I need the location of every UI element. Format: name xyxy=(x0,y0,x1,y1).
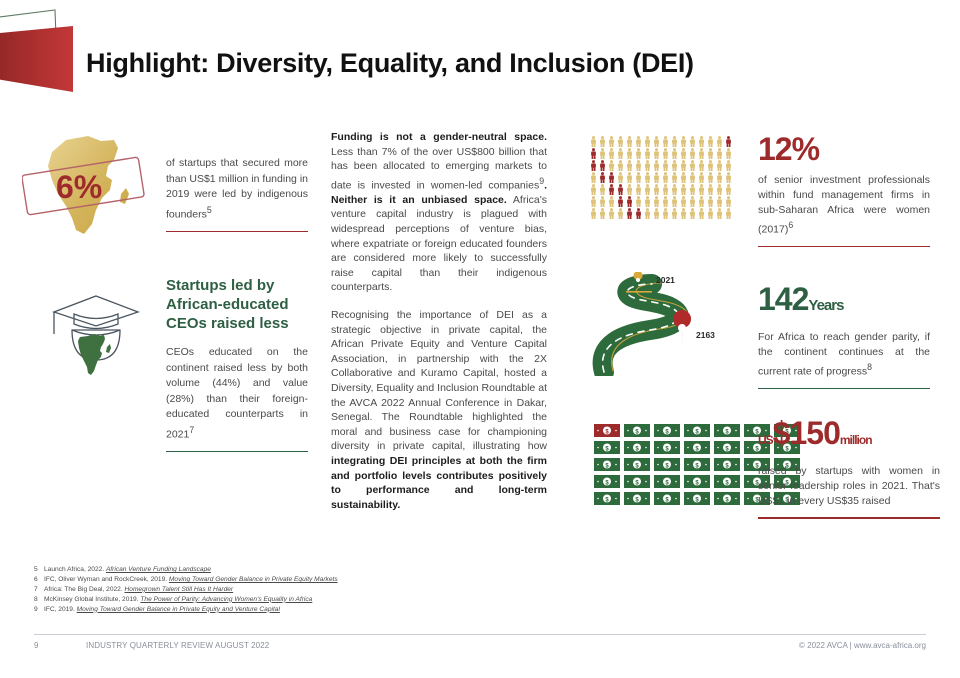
people-pictogram-chart xyxy=(590,136,738,231)
right-column: 12% of senior investment professionals w… xyxy=(586,128,944,528)
person-icon xyxy=(590,148,597,159)
person-icon xyxy=(716,136,723,147)
person-icon xyxy=(608,184,615,195)
footnote-row: 5Launch Africa, 2022. African Venture Fu… xyxy=(34,565,634,575)
banknote-icon: $ xyxy=(714,424,740,437)
footnote-ref-8: 8 xyxy=(867,362,872,372)
footnote-title-link[interactable]: African Venture Funding Landscape xyxy=(106,566,211,573)
paragraph-funding-lead: Funding is not a gender-neutral space. xyxy=(331,131,547,143)
stat-12-text: 12% of senior investment professionals w… xyxy=(758,132,930,247)
person-icon xyxy=(644,196,651,207)
person-icon xyxy=(626,148,633,159)
person-icon xyxy=(635,208,642,219)
person-icon xyxy=(716,208,723,219)
footnote-ref-5: 5 xyxy=(207,205,212,215)
stat-150-text: US$150million raised by startups with wo… xyxy=(758,416,940,519)
person-icon xyxy=(617,160,624,171)
banknote-icon: $ xyxy=(624,475,650,488)
stat-6-percent-block: 6% of startups that secured more than US… xyxy=(18,128,318,246)
banknote-icon: $ xyxy=(654,424,680,437)
person-icon xyxy=(680,196,687,207)
stat-12-percent-panel: 12% of senior investment professionals w… xyxy=(586,128,944,268)
footnote-row: 8McKinsey Global Institute, 2019. The Po… xyxy=(34,595,634,605)
person-icon xyxy=(698,208,705,219)
person-icon xyxy=(671,196,678,207)
person-icon xyxy=(662,208,669,219)
person-icon xyxy=(725,172,732,183)
person-icon xyxy=(608,160,615,171)
stat-6-description: of startups that secured more than US$1 … xyxy=(166,156,308,232)
banknote-icon: $ xyxy=(654,458,680,471)
person-icon xyxy=(599,184,606,195)
education-heading: Startups led by African-educated CEOs ra… xyxy=(166,276,308,333)
person-icon xyxy=(590,160,597,171)
person-icon xyxy=(635,184,642,195)
stat-150-prefix: US xyxy=(758,433,773,447)
left-column: 6% of startups that secured more than US… xyxy=(18,128,318,246)
footnote-number: 5 xyxy=(34,565,44,575)
person-icon xyxy=(599,196,606,207)
footnote-ref-7: 7 xyxy=(189,425,194,435)
paragraph-funding: Funding is not a gender-neutral space. L… xyxy=(331,130,547,295)
person-icon xyxy=(680,136,687,147)
banknote-icon: $ xyxy=(714,441,740,454)
person-icon xyxy=(662,160,669,171)
person-icon xyxy=(725,184,732,195)
person-icon xyxy=(653,184,660,195)
footnote-title-link[interactable]: Homegrown Talent Still Has It Harder xyxy=(125,586,234,593)
person-icon xyxy=(716,160,723,171)
person-icon xyxy=(653,148,660,159)
footnote-row: 9IFC, 2019. Moving Toward Gender Balance… xyxy=(34,605,634,615)
person-icon xyxy=(644,184,651,195)
person-icon xyxy=(608,172,615,183)
banknote-icon: $ xyxy=(594,492,620,505)
person-icon xyxy=(644,136,651,147)
person-icon xyxy=(644,148,651,159)
banknote-icon: $ xyxy=(654,475,680,488)
person-icon xyxy=(671,136,678,147)
road-start-label: 2021 xyxy=(656,275,675,285)
person-icon xyxy=(707,160,714,171)
footnote-title-link[interactable]: The Power of Parity: Advancing Women's E… xyxy=(140,596,312,603)
stat-12-divider xyxy=(758,246,930,248)
banknote-icon: $ xyxy=(714,492,740,505)
person-icon xyxy=(626,160,633,171)
banknote-icon: $ xyxy=(594,424,620,437)
person-icon xyxy=(725,136,732,147)
person-icon xyxy=(635,148,642,159)
person-icon xyxy=(707,184,714,195)
person-icon xyxy=(662,184,669,195)
person-icon xyxy=(671,184,678,195)
banknote-icon: $ xyxy=(684,458,710,471)
footnote-source: Launch Africa, 2022. xyxy=(44,566,106,573)
person-icon xyxy=(599,208,606,219)
person-icon xyxy=(689,160,696,171)
paragraph-funding-text-a: Less than 7% of the over US$800 billion … xyxy=(331,146,547,192)
person-icon xyxy=(608,148,615,159)
person-icon xyxy=(617,196,624,207)
banknote-icon: $ xyxy=(684,441,710,454)
person-icon xyxy=(698,184,705,195)
person-icon xyxy=(689,184,696,195)
footnote-title-link[interactable]: Moving Toward Gender Balance in Private … xyxy=(169,576,338,583)
person-icon xyxy=(608,196,615,207)
person-icon xyxy=(599,172,606,183)
person-icon xyxy=(590,172,597,183)
person-icon xyxy=(617,172,624,183)
person-icon xyxy=(689,172,696,183)
person-icon xyxy=(617,184,624,195)
stat-150-value-row: US$150million xyxy=(758,416,940,457)
person-icon xyxy=(644,160,651,171)
person-icon xyxy=(644,172,651,183)
winding-road-graphic: 2021 2163 xyxy=(586,272,746,376)
road-end-label: 2163 xyxy=(696,330,715,340)
footnote-row: 6IFC, Oliver Wyman and RockCreek, 2019. … xyxy=(34,575,634,585)
person-icon xyxy=(671,208,678,219)
person-icon xyxy=(599,160,606,171)
footnote-source: McKinsey Global Institute, 2019. xyxy=(44,596,140,603)
person-icon xyxy=(689,148,696,159)
page-title: Highlight: Diversity, Equality, and Incl… xyxy=(86,48,694,79)
banknote-icon: $ xyxy=(594,458,620,471)
stat-6-divider xyxy=(166,231,308,233)
stat-142-value-row: 142Years xyxy=(758,282,930,323)
person-icon xyxy=(653,136,660,147)
person-icon xyxy=(698,148,705,159)
footnote-row: 7Africa: The Big Deal, 2022. Homegrown T… xyxy=(34,585,634,595)
person-icon xyxy=(590,136,597,147)
stat-150-million-panel: $$$$$$$$$$$$$$$$$$$$$$$$$$$$$$$$$$$ US$1… xyxy=(586,418,944,528)
stat-142-text: 142Years For Africa to reach gender pari… xyxy=(758,282,930,389)
banknote-icon: $ xyxy=(594,475,620,488)
person-icon xyxy=(617,136,624,147)
stat-150-divider xyxy=(758,517,940,519)
person-icon xyxy=(698,196,705,207)
person-icon xyxy=(599,136,606,147)
person-icon xyxy=(626,184,633,195)
person-icon xyxy=(680,184,687,195)
person-icon xyxy=(707,148,714,159)
person-icon xyxy=(680,208,687,219)
person-icon xyxy=(635,172,642,183)
person-icon xyxy=(707,208,714,219)
person-icon xyxy=(716,184,723,195)
person-icon xyxy=(662,148,669,159)
person-icon xyxy=(617,148,624,159)
paragraph-roundtable-text: Recognising the importance of DEI as a s… xyxy=(331,309,547,452)
banknote-icon: $ xyxy=(714,475,740,488)
paragraph-funding-text-b: Africa's venture capital industry is pla… xyxy=(331,194,547,294)
person-icon xyxy=(689,196,696,207)
footnote-number: 7 xyxy=(34,585,44,595)
person-icon xyxy=(608,208,615,219)
banknote-icon: $ xyxy=(684,492,710,505)
svg-text:6%: 6% xyxy=(56,169,102,205)
footer-document-name: INDUSTRY QUARTERLY REVIEW AUGUST 2022 xyxy=(86,641,269,650)
stat-142-years-panel: 2021 2163 142Years For Africa to reach g… xyxy=(586,268,944,418)
person-icon xyxy=(653,196,660,207)
banknote-icon: $ xyxy=(684,424,710,437)
person-icon xyxy=(626,208,633,219)
banknote-icon: $ xyxy=(624,441,650,454)
stat-12-value: 12% xyxy=(758,132,930,166)
paragraph-roundtable-bold: integrating DEI principles at both the f… xyxy=(331,455,547,511)
person-icon xyxy=(653,208,660,219)
stat-142-unit: Years xyxy=(808,297,843,314)
footnotes-list: 5Launch Africa, 2022. African Venture Fu… xyxy=(34,565,634,615)
person-icon xyxy=(671,160,678,171)
person-icon xyxy=(689,208,696,219)
person-icon xyxy=(635,196,642,207)
footnote-source: Africa: The Big Deal, 2022. xyxy=(44,586,125,593)
person-icon xyxy=(698,160,705,171)
education-text: Startups led by African-educated CEOs ra… xyxy=(166,276,308,452)
person-icon xyxy=(653,160,660,171)
graduation-cap-icon xyxy=(40,286,148,382)
person-icon xyxy=(626,136,633,147)
footer-copyright: © 2022 AVCA | www.avca-africa.org xyxy=(799,641,926,650)
person-icon xyxy=(608,136,615,147)
banknote-icon: $ xyxy=(624,492,650,505)
page-footer: 9 INDUSTRY QUARTERLY REVIEW AUGUST 2022 … xyxy=(34,641,926,655)
person-icon xyxy=(671,172,678,183)
stat-142-description: For Africa to reach gender parity, if th… xyxy=(758,330,930,380)
person-icon xyxy=(725,160,732,171)
banknote-icon: $ xyxy=(654,492,680,505)
person-icon xyxy=(698,172,705,183)
person-icon xyxy=(662,196,669,207)
footnote-number: 8 xyxy=(34,595,44,605)
person-icon xyxy=(716,196,723,207)
person-icon xyxy=(644,208,651,219)
person-icon xyxy=(599,148,606,159)
footer-divider xyxy=(34,634,926,635)
person-icon xyxy=(680,148,687,159)
education-description: CEOs educated on the continent raised le… xyxy=(166,345,308,443)
footnote-number: 6 xyxy=(34,575,44,585)
person-icon xyxy=(626,196,633,207)
person-icon xyxy=(725,196,732,207)
banknote-icon: $ xyxy=(594,441,620,454)
person-icon xyxy=(590,208,597,219)
banknote-icon: $ xyxy=(654,441,680,454)
stat-142-divider xyxy=(758,388,930,390)
person-icon xyxy=(707,172,714,183)
banknote-icon: $ xyxy=(714,458,740,471)
africa-map-badge-icon: 6% xyxy=(22,132,150,242)
footer-page-number: 9 xyxy=(34,641,38,650)
person-icon xyxy=(716,172,723,183)
person-icon xyxy=(707,136,714,147)
footnote-title-link[interactable]: Moving Toward Gender Balance in Private … xyxy=(77,606,280,613)
footnote-ref-6: 6 xyxy=(788,220,793,230)
person-icon xyxy=(590,196,597,207)
banknote-icon: $ xyxy=(624,458,650,471)
person-icon xyxy=(725,208,732,219)
person-icon xyxy=(626,172,633,183)
banknote-icon: $ xyxy=(624,424,650,437)
person-icon xyxy=(635,136,642,147)
person-icon xyxy=(680,160,687,171)
middle-text-column: Funding is not a gender-neutral space. L… xyxy=(331,130,547,525)
stat-150-unit: million xyxy=(840,433,872,447)
person-icon xyxy=(680,172,687,183)
person-icon xyxy=(590,184,597,195)
person-icon xyxy=(662,136,669,147)
stat-12-description: of senior investment professionals withi… xyxy=(758,173,930,238)
footnote-number: 9 xyxy=(34,605,44,615)
person-icon xyxy=(671,148,678,159)
paragraph-roundtable: Recognising the importance of DEI as a s… xyxy=(331,308,547,512)
person-icon xyxy=(653,172,660,183)
person-icon xyxy=(725,148,732,159)
person-icon xyxy=(689,136,696,147)
person-icon xyxy=(635,160,642,171)
person-icon xyxy=(617,208,624,219)
education-divider xyxy=(166,451,308,453)
banknote-icon: $ xyxy=(684,475,710,488)
person-icon xyxy=(698,136,705,147)
footnote-source: IFC, 2019. xyxy=(44,606,77,613)
person-icon xyxy=(716,148,723,159)
stat-150-description: raised by startups with women in senior … xyxy=(758,464,940,509)
footnote-source: IFC, Oliver Wyman and RockCreek, 2019. xyxy=(44,576,169,583)
person-icon xyxy=(707,196,714,207)
person-icon xyxy=(662,172,669,183)
